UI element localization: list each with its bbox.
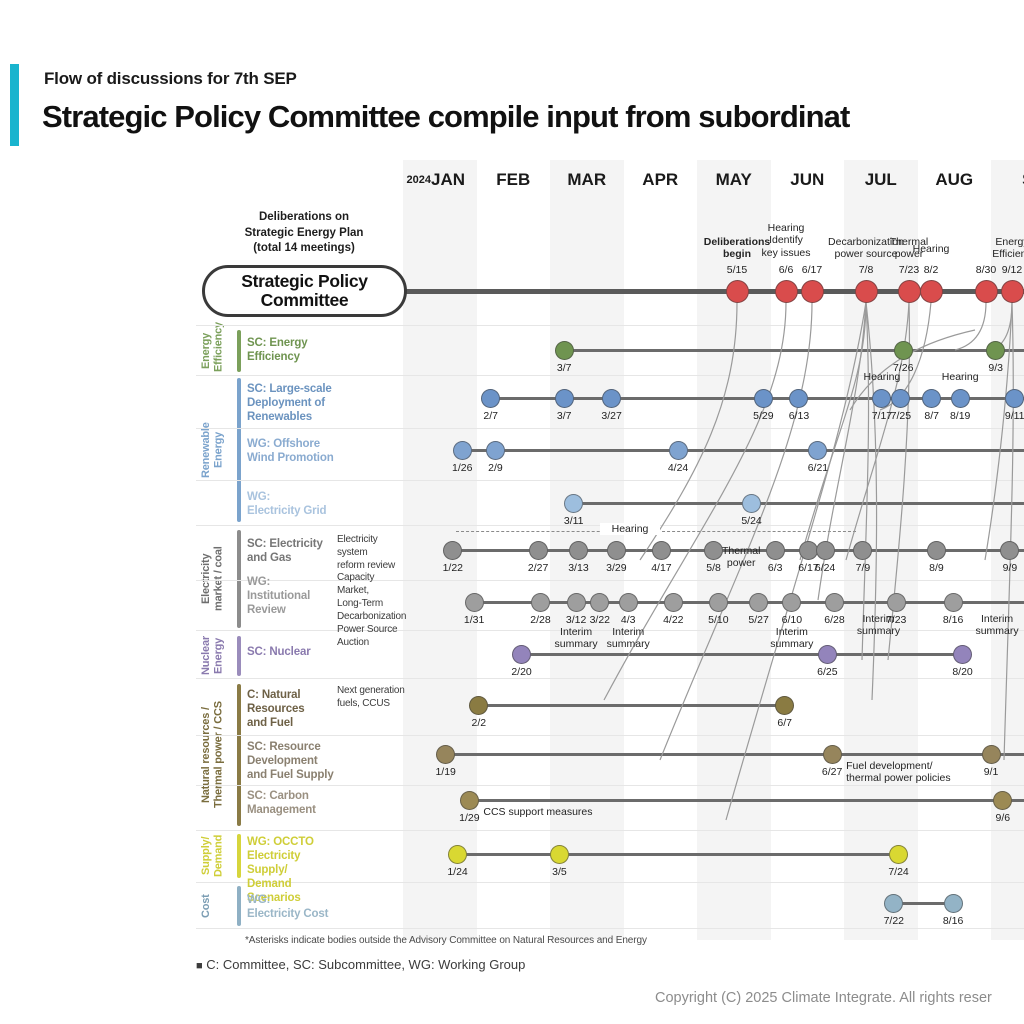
row-event-dot-9-1-29[interactable] (460, 791, 479, 810)
row-event-dot-7-6-7[interactable] (775, 696, 794, 715)
row-event-date-11-8-16: 8/16 (927, 915, 979, 927)
row-event-dot-4-4-17[interactable] (652, 541, 671, 560)
spc-name-line2: Committee (241, 291, 368, 310)
row-event-date-2-2-9: 2/9 (469, 462, 521, 474)
row-event-dot-10-7-24[interactable] (889, 845, 908, 864)
row-event-date-1-2-7: 2/7 (465, 410, 517, 422)
row-event-dot-2-6-21[interactable] (808, 441, 827, 460)
row-event-dot-1-2-7[interactable] (481, 389, 500, 408)
row-event-date-3-5-24: 5/24 (726, 515, 778, 527)
row-event-dot-2-2-9[interactable] (486, 441, 505, 460)
row-event-note-9-1-29: CCS support measures (483, 806, 592, 818)
row-event-date-4-9-9: 9/9 (984, 562, 1024, 574)
copyright-text: Copyright (C) 2025 Climate Integrate. Al… (655, 990, 992, 1006)
row-event-date-4-1-22: 1/22 (427, 562, 479, 574)
row-event-dot-8-1-19[interactable] (436, 745, 455, 764)
row-event-date-4-4-17: 4/17 (635, 562, 687, 574)
row-event-dot-5-3-22[interactable] (590, 593, 609, 612)
row-event-dot-8-9-1[interactable] (982, 745, 1001, 764)
row-event-date-1-9-11: 9/11 (989, 410, 1024, 422)
row-event-date-6-6-25: 6/25 (801, 666, 853, 678)
row-event-dot-1-3-7[interactable] (555, 389, 574, 408)
spc-event-note-9-12: EnergyEfficienc (952, 236, 1024, 261)
row-event-dot-3-3-11[interactable] (564, 494, 583, 513)
row-event-dot-1-3-27[interactable] (602, 389, 621, 408)
row-event-dot-10-1-24[interactable] (448, 845, 467, 864)
row-event-date-8-9-1: 9/1 (965, 766, 1017, 778)
row-event-date-4-8-9: 8/9 (910, 562, 962, 574)
row-event-note-8-6-27: Fuel development/thermal power policies (846, 760, 950, 785)
spc-event-dot-7-23[interactable] (898, 280, 921, 303)
spc-events-layer: Deliberationsbegin5/15HearingIdentifykey… (0, 0, 1024, 1024)
spc-event-dot-8-30[interactable] (975, 280, 998, 303)
row-event-dot-2-4-24[interactable] (669, 441, 688, 460)
row-event-date-1-3-7: 3/7 (538, 410, 590, 422)
row-event-date-3-3-11: 3/11 (548, 515, 600, 527)
row-event-dot-5-1-31[interactable] (465, 593, 484, 612)
row-event-dot-9-9-6[interactable] (993, 791, 1012, 810)
row-event-date-4-7-9: 7/9 (837, 562, 889, 574)
row-event-dot-4-2-27[interactable] (529, 541, 548, 560)
row-event-date-5-1-31: 1/31 (448, 614, 500, 626)
spc-event-dot-7-8[interactable] (855, 280, 878, 303)
row-event-dot-5-5-27[interactable] (749, 593, 768, 612)
row-event-dot-1-8-19[interactable] (951, 389, 970, 408)
row-event-dot-0-7-26[interactable] (894, 341, 913, 360)
row-event-dot-5-6-28[interactable] (825, 593, 844, 612)
row-event-date-7-2-2: 2/2 (453, 717, 505, 729)
row-event-dot-11-7-22[interactable] (884, 894, 903, 913)
row-event-dot-5-6-10[interactable] (782, 593, 801, 612)
row-event-dot-5-4-3[interactable] (619, 593, 638, 612)
row-event-dot-5-8-16[interactable] (944, 593, 963, 612)
spc-event-date-6-17: 6/17 (786, 264, 838, 276)
hearing-band-label: Hearing (600, 523, 660, 535)
row-event-dot-4-9-9[interactable] (1000, 541, 1019, 560)
row-event-dot-4-7-9[interactable] (853, 541, 872, 560)
spc-event-dot-9-12[interactable] (1001, 280, 1024, 303)
row-event-date-10-1-24: 1/24 (432, 866, 484, 878)
legend-text: C: Committee, SC: Subcommittee, WG: Work… (206, 957, 525, 972)
row-event-dot-5-2-28[interactable] (531, 593, 550, 612)
row-event-date-6-2-20: 2/20 (496, 666, 548, 678)
row-event-dot-1-6-13[interactable] (789, 389, 808, 408)
row-event-dot-1-8-7[interactable] (922, 389, 941, 408)
row-event-date-6-8-20: 8/20 (937, 666, 989, 678)
row-event-dot-10-3-5[interactable] (550, 845, 569, 864)
spc-event-dot-6-17[interactable] (801, 280, 824, 303)
asterisk-note: *Asterisks indicate bodies outside the A… (245, 935, 647, 946)
row-event-dot-1-7-17[interactable] (872, 389, 891, 408)
row-event-date-2-4-24: 4/24 (652, 462, 704, 474)
row-event-dot-4-6-24[interactable] (816, 541, 835, 560)
row-event-dot-5-5-10[interactable] (709, 593, 728, 612)
row-event-dot-11-8-16[interactable] (944, 894, 963, 913)
row-event-dot-5-7-23[interactable] (887, 593, 906, 612)
row-event-dot-4-3-13[interactable] (569, 541, 588, 560)
row-event-dot-0-3-7[interactable] (555, 341, 574, 360)
strategic-policy-committee-pill[interactable]: Strategic Policy Committee (202, 265, 407, 317)
spc-event-dot-8-2[interactable] (920, 280, 943, 303)
row-event-date-1-6-13: 6/13 (773, 410, 825, 422)
row-event-dot-5-3-12[interactable] (567, 593, 586, 612)
row-event-dot-0-9-3[interactable] (986, 341, 1005, 360)
row-event-date-10-7-24: 7/24 (873, 866, 925, 878)
row-event-dot-4-1-22[interactable] (443, 541, 462, 560)
row-event-date-11-7-22: 7/22 (868, 915, 920, 927)
row-event-date-10-3-5: 3/5 (533, 866, 585, 878)
spc-event-date-8-2: 8/2 (905, 264, 957, 276)
spc-event-dot-5-15[interactable] (726, 280, 749, 303)
row-event-date-8-1-19: 1/19 (420, 766, 472, 778)
spc-event-date-5-15: 5/15 (711, 264, 763, 276)
spc-name-line1: Strategic Policy (241, 272, 368, 291)
row-event-dot-1-9-11[interactable] (1005, 389, 1024, 408)
row-event-note-5-4-3: Interimsummary (568, 626, 688, 651)
row-event-date-1-8-19: 8/19 (934, 410, 986, 422)
legend-line: ■ C: Committee, SC: Subcommittee, WG: Wo… (196, 957, 525, 972)
row-event-dot-6-8-20[interactable] (953, 645, 972, 664)
row-event-dot-8-6-27[interactable] (823, 745, 842, 764)
spc-event-dot-6-6[interactable] (775, 280, 798, 303)
row-event-date-2-6-21: 6/21 (792, 462, 844, 474)
row-event-date-1-3-27: 3/27 (586, 410, 638, 422)
row-event-dot-7-2-2[interactable] (469, 696, 488, 715)
row-event-dot-1-7-25[interactable] (891, 389, 910, 408)
row-event-dot-4-8-9[interactable] (927, 541, 946, 560)
row-event-date-5-7-23: 7/23 (870, 614, 922, 626)
row-event-dot-5-4-22[interactable] (664, 593, 683, 612)
row-event-date-9-9-6: 9/6 (977, 812, 1024, 824)
row-event-note-1-8-19: Hearing (900, 371, 1020, 383)
row-event-note-5-8-16: Interimsummary (937, 613, 1024, 638)
legend-square-icon: ■ (196, 960, 203, 972)
row-event-date-0-3-7: 3/7 (538, 362, 590, 374)
row-event-dot-3-5-24[interactable] (742, 494, 761, 513)
row-event-date-7-6-7: 6/7 (759, 717, 811, 729)
row-event-dot-2-1-26[interactable] (453, 441, 472, 460)
row-event-dot-4-3-29[interactable] (607, 541, 626, 560)
row-event-dot-1-5-29[interactable] (754, 389, 773, 408)
spc-event-date-9-12: 9/12 (986, 264, 1024, 276)
